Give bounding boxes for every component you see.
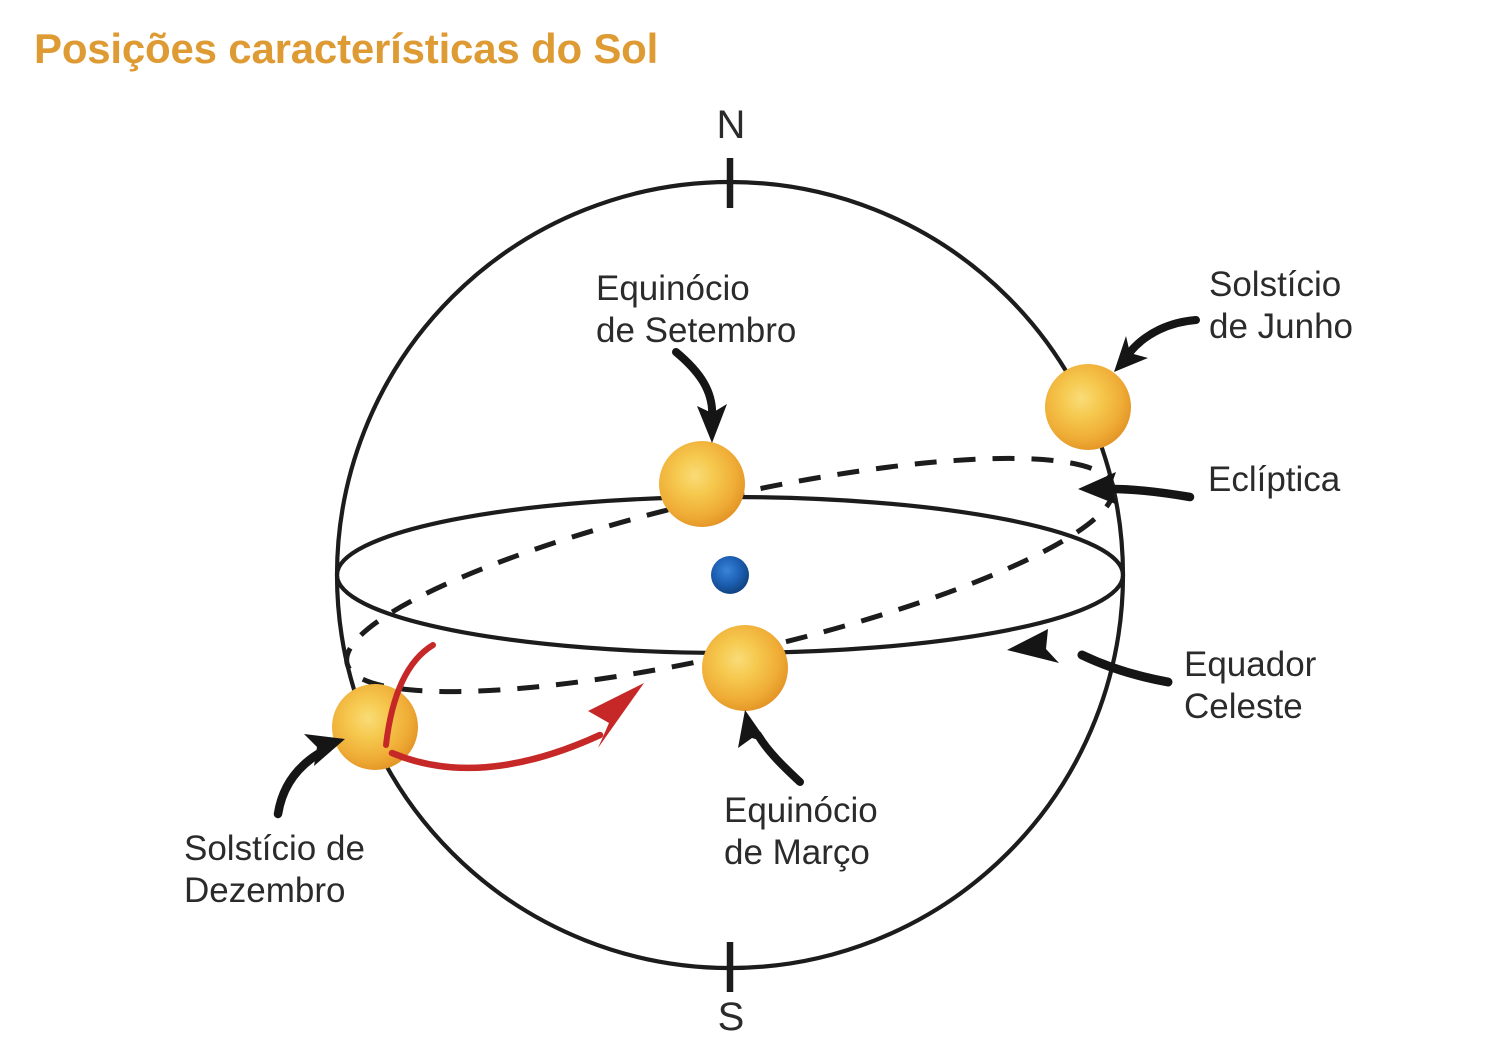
- celestial-sphere-diagram: N S Equinócio de Setembro Solstício de J…: [0, 0, 1498, 1051]
- december-solstice-label-line1: Solstício de: [184, 829, 365, 868]
- september-equinox-pointer-arrow: [676, 352, 712, 418]
- celestial-equator-pointer-head: [1007, 629, 1059, 663]
- celestial-equator-pointer-arrow: [1082, 655, 1168, 682]
- june-solstice-label-line2: de Junho: [1209, 307, 1353, 346]
- december-solstice-pointer-arrow: [278, 754, 318, 814]
- celestial-equator-label-line1: Equador: [1184, 645, 1317, 684]
- diagram-canvas: N S Equinócio de Setembro Solstício de J…: [0, 0, 1498, 1051]
- earth-sphere[interactable]: [711, 556, 749, 594]
- september-equinox-label-line1: Equinócio: [596, 269, 750, 308]
- december-solstice-label-line2: Dezembro: [184, 871, 345, 910]
- september-equinox-sun[interactable]: [659, 441, 745, 527]
- celestial-equator-label-line2: Celeste: [1184, 687, 1303, 726]
- ecliptic-label: Eclíptica: [1208, 460, 1341, 499]
- march-equinox-sun[interactable]: [702, 625, 788, 711]
- ecliptic-pointer-arrow: [1112, 489, 1190, 497]
- march-equinox-label-line1: Equinócio: [724, 791, 878, 830]
- june-solstice-label-line1: Solstício: [1209, 265, 1341, 304]
- south-pole-label: S: [718, 995, 745, 1039]
- september-equinox-label-line2: de Setembro: [596, 311, 796, 350]
- june-solstice-pointer-arrow: [1130, 320, 1196, 352]
- north-pole-label: N: [717, 103, 746, 147]
- annual-motion-arrow-curve: [392, 735, 600, 768]
- march-equinox-label-line2: de Março: [724, 833, 870, 872]
- march-equinox-pointer-arrow: [758, 735, 800, 782]
- june-solstice-sun[interactable]: [1045, 364, 1131, 450]
